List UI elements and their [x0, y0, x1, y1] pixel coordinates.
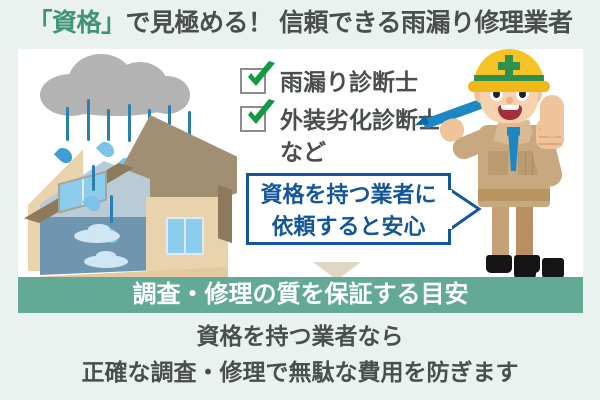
indoor-puddle-2-highlight: [96, 251, 116, 260]
page-title: 「資格」で見極める！ 信頼できる雨漏り修理業者: [0, 4, 600, 42]
checklist-etc-label: など: [280, 137, 326, 167]
content-panel: 雨漏り診断士 外装劣化診断士 など 資格を持つ業者に 依頼すると安心: [18, 49, 583, 277]
qualification-checklist: 雨漏り診断士 外装劣化診断士: [240, 65, 455, 141]
worker-boot-left: [486, 255, 512, 273]
worker-leg-left: [492, 199, 509, 261]
worker-pocket-left: [488, 151, 508, 175]
title-rest: で見極める！ 信頼できる雨漏り修理業者: [126, 9, 573, 37]
worker-leg-right: [516, 199, 533, 261]
thumb-up-finger: [540, 95, 564, 137]
speech-bubble-line-2: 依頼すると安心: [249, 211, 448, 243]
checklist-item-label: 雨漏り診断士: [280, 65, 418, 99]
title-highlight: 「資格」: [28, 9, 126, 37]
hard-hat-brim: [468, 81, 550, 92]
summary-banner: 調査・修理の質を保証する目安: [18, 277, 583, 313]
infographic-root: 「資格」で見極める！ 信頼できる雨漏り修理業者: [0, 0, 600, 400]
footer-line-1: 資格を持つ業者なら: [0, 318, 600, 354]
house-illustration: [22, 109, 250, 277]
summary-banner-text: 調査・修理の質を保証する目安: [133, 281, 469, 308]
speech-bubble-line-1: 資格を持つ業者に: [249, 176, 448, 211]
check-icon: [244, 98, 278, 132]
green-cross-icon-bar: [498, 62, 520, 70]
indoor-puddle-1-highlight: [88, 224, 110, 234]
check-icon: [244, 60, 278, 94]
house-window-front: [166, 217, 204, 255]
house-roof-edge: [218, 185, 232, 243]
footer-text: 資格を持つ業者なら 正確な調査・修理で無駄な費用を防ぎます: [0, 318, 600, 390]
worker-uniform-hem: [478, 189, 550, 201]
footer-line-2: 正確な調査・修理で無駄な費用を防ぎます: [0, 354, 600, 390]
inspector-character: [434, 49, 583, 277]
speech-bubble: 資格を持つ業者に 依頼すると安心: [246, 173, 451, 245]
worker-nose: [506, 97, 513, 104]
checklist-item[interactable]: 雨漏り診断士: [240, 65, 455, 101]
checklist-item-label: 外装劣化診断士: [280, 103, 441, 137]
